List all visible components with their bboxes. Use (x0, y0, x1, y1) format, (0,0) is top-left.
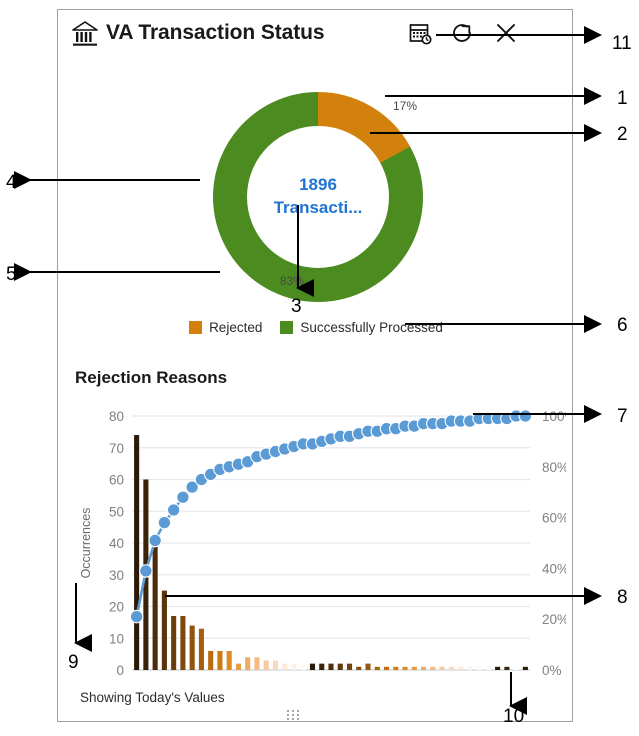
donut-legend: Rejected Successfully Processed (58, 320, 574, 335)
bar[interactable] (421, 667, 426, 670)
bar[interactable] (430, 667, 435, 670)
secondary-y-axis-tick-label: 20% (542, 612, 566, 627)
page-title: VA Transaction Status (106, 21, 324, 45)
data-point[interactable] (519, 410, 531, 422)
bar[interactable] (375, 667, 380, 670)
secondary-y-axis-tick-label: 100% (542, 409, 566, 424)
data-point[interactable] (177, 491, 189, 503)
bar[interactable] (403, 667, 408, 670)
processed-percent-label: 83% (280, 274, 304, 288)
data-point[interactable] (167, 504, 179, 516)
bank-icon (70, 20, 100, 48)
bar[interactable] (514, 667, 519, 670)
bar[interactable] (486, 667, 491, 670)
secondary-y-axis-tick-label: 80% (542, 460, 566, 475)
data-point[interactable] (158, 516, 170, 528)
bar[interactable] (236, 664, 241, 670)
y-axis-tick-label: 40 (109, 536, 124, 551)
bar[interactable] (217, 651, 222, 670)
rejection-reasons-title: Rejection Reasons (75, 368, 227, 388)
annotation-11: 11 (612, 33, 632, 54)
bar[interactable] (180, 616, 185, 670)
bar[interactable] (254, 657, 259, 670)
close-icon[interactable] (494, 21, 518, 45)
bar[interactable] (440, 667, 445, 670)
y-axis-tick-label: 20 (109, 600, 124, 615)
bar[interactable] (412, 667, 417, 670)
bar[interactable] (190, 626, 195, 670)
bar[interactable] (199, 629, 204, 670)
bar[interactable] (245, 657, 250, 670)
bar[interactable] (208, 651, 213, 670)
cumulative-percent-line (137, 416, 526, 617)
legend-label-rejected: Rejected (209, 320, 262, 335)
legend-swatch-processed (280, 321, 293, 334)
pareto-svg: 010203040506070800%20%40%60%80%100%Occur… (66, 402, 566, 682)
y-axis-tick-label: 10 (109, 631, 124, 646)
legend-item-processed[interactable]: Successfully Processed (280, 320, 443, 335)
data-point[interactable] (140, 565, 152, 577)
annotation-6: 6 (617, 315, 628, 336)
bar[interactable] (365, 664, 370, 670)
footer-status-text: Showing Today's Values (80, 690, 225, 705)
refresh-icon[interactable] (450, 21, 474, 45)
bar[interactable] (291, 664, 296, 670)
header-toolbar: VA Transaction Status (58, 10, 572, 60)
y-axis-tick-label: 50 (109, 504, 124, 519)
bar[interactable] (504, 667, 509, 670)
cumulative-percent-markers (130, 410, 531, 623)
secondary-y-axis-tick-label: 0% (542, 663, 562, 678)
y-axis-tick-label: 0 (116, 663, 124, 678)
y-axis-tick-label: 30 (109, 568, 124, 583)
bar[interactable] (449, 667, 454, 670)
annotation-1: 1 (617, 88, 628, 109)
bar[interactable] (310, 664, 315, 670)
bar[interactable] (134, 435, 139, 670)
bar[interactable] (171, 616, 176, 670)
bar[interactable] (273, 660, 278, 670)
secondary-y-axis-tick-label: 60% (542, 511, 566, 526)
screenshot-root: VA Transaction Status (0, 0, 639, 736)
calendar-clock-icon[interactable] (408, 21, 432, 45)
bar[interactable] (458, 667, 463, 670)
data-point[interactable] (130, 610, 142, 622)
bar-series (134, 435, 528, 670)
primary-y-axis-title: Occurrences (79, 508, 93, 579)
va-transaction-status-card: VA Transaction Status (57, 9, 573, 722)
y-axis-tick-label: 80 (109, 409, 124, 424)
drag-handle-icon[interactable] (287, 710, 311, 720)
annotation-4: 4 (6, 172, 17, 193)
secondary-y-axis-tick-label: 40% (542, 561, 566, 576)
annotation-5: 5 (6, 264, 17, 285)
bar[interactable] (356, 667, 361, 670)
rejected-percent-label: 17% (393, 99, 417, 113)
legend-swatch-rejected (189, 321, 202, 334)
bar[interactable] (227, 651, 232, 670)
bar[interactable] (467, 667, 472, 670)
bar[interactable] (523, 667, 528, 670)
bar[interactable] (328, 664, 333, 670)
annotation-8: 8 (617, 587, 628, 608)
rejection-reasons-pareto-chart: 010203040506070800%20%40%60%80%100%Occur… (66, 402, 566, 682)
bar[interactable] (384, 667, 389, 670)
annotation-2: 2 (617, 124, 628, 145)
bar[interactable] (477, 667, 482, 670)
bar[interactable] (347, 664, 352, 670)
transaction-status-donut-chart: 1896 Transacti... (203, 82, 433, 312)
legend-label-processed: Successfully Processed (300, 320, 443, 335)
bar[interactable] (282, 664, 287, 670)
y-axis-tick-label: 60 (109, 473, 124, 488)
bar[interactable] (153, 543, 158, 670)
y-axis-tick-label: 70 (109, 441, 124, 456)
bar[interactable] (264, 660, 269, 670)
bar[interactable] (393, 667, 398, 670)
legend-item-rejected[interactable]: Rejected (189, 320, 262, 335)
data-point[interactable] (149, 534, 161, 546)
bar[interactable] (301, 664, 306, 670)
bar[interactable] (338, 664, 343, 670)
bar[interactable] (162, 591, 167, 670)
annotation-7: 7 (617, 406, 628, 427)
bar[interactable] (495, 667, 500, 670)
bar[interactable] (319, 664, 324, 670)
